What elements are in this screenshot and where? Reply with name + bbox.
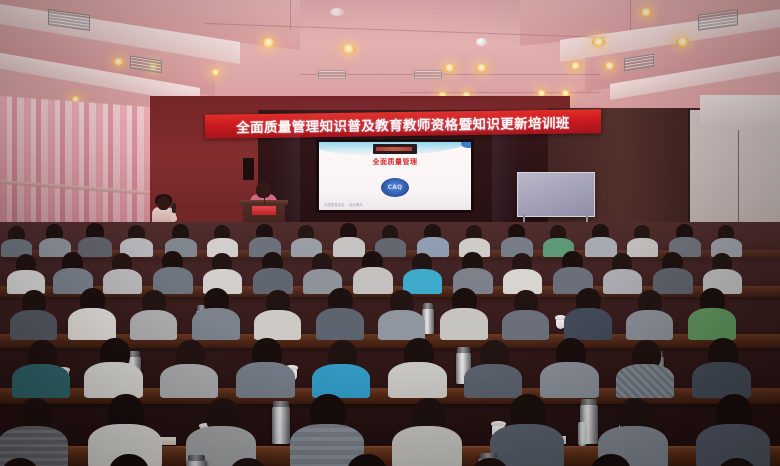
wall-speaker-icon bbox=[243, 158, 254, 180]
projected-slide: 全面质量管理 CAQ 中国质量协会 · 培训课件 bbox=[319, 142, 471, 210]
podium-microphone-icon bbox=[264, 196, 265, 204]
ceiling-light-icon bbox=[604, 62, 615, 70]
slide-footer-text: 中国质量协会 · 培训课件 bbox=[324, 202, 363, 207]
thermos-flask-icon bbox=[272, 406, 290, 444]
ceiling-light-icon bbox=[211, 69, 220, 76]
slide-toolbar-strip bbox=[373, 144, 417, 154]
ceiling-light-icon bbox=[113, 58, 124, 66]
audience-area bbox=[0, 222, 780, 466]
microphone-icon bbox=[172, 203, 176, 213]
ceiling-light-icon bbox=[592, 37, 605, 47]
slide-logo: CAQ bbox=[381, 178, 409, 197]
ceiling-light-icon bbox=[476, 64, 487, 72]
wall-right-gray-upper bbox=[700, 95, 780, 125]
event-banner-text: 全面质量管理知识普及教育教师资格暨知识更新培训班 bbox=[236, 112, 570, 137]
conference-hall-photo: 全面质量管理知识普及教育教师资格暨知识更新培训班 全面质量管理 CAQ 中国质量… bbox=[0, 0, 780, 466]
ceiling-light-icon bbox=[444, 64, 455, 72]
air-vent-icon bbox=[318, 70, 346, 79]
ceiling-light-icon bbox=[262, 38, 275, 48]
water-bottle-icon bbox=[578, 422, 587, 446]
podium-sign bbox=[252, 206, 276, 215]
presenter-head bbox=[157, 196, 170, 210]
ceiling-light-icon bbox=[640, 8, 652, 17]
smoke-detector-icon bbox=[330, 8, 344, 16]
thermos-flask-icon bbox=[186, 460, 207, 466]
slide-corner-dot bbox=[461, 142, 471, 148]
projector-screen-icon: 全面质量管理 CAQ 中国质量协会 · 培训课件 bbox=[316, 139, 474, 213]
slide-title-text: 全面质量管理 bbox=[319, 157, 471, 167]
ceiling-light-icon bbox=[570, 62, 581, 70]
whiteboard-icon bbox=[517, 172, 595, 217]
air-vent-icon bbox=[414, 70, 442, 79]
ceiling-light-icon bbox=[676, 37, 689, 47]
slide-logo-text: CAQ bbox=[388, 184, 403, 191]
smoke-detector-icon bbox=[476, 38, 487, 46]
ceiling-light-icon bbox=[342, 44, 355, 54]
